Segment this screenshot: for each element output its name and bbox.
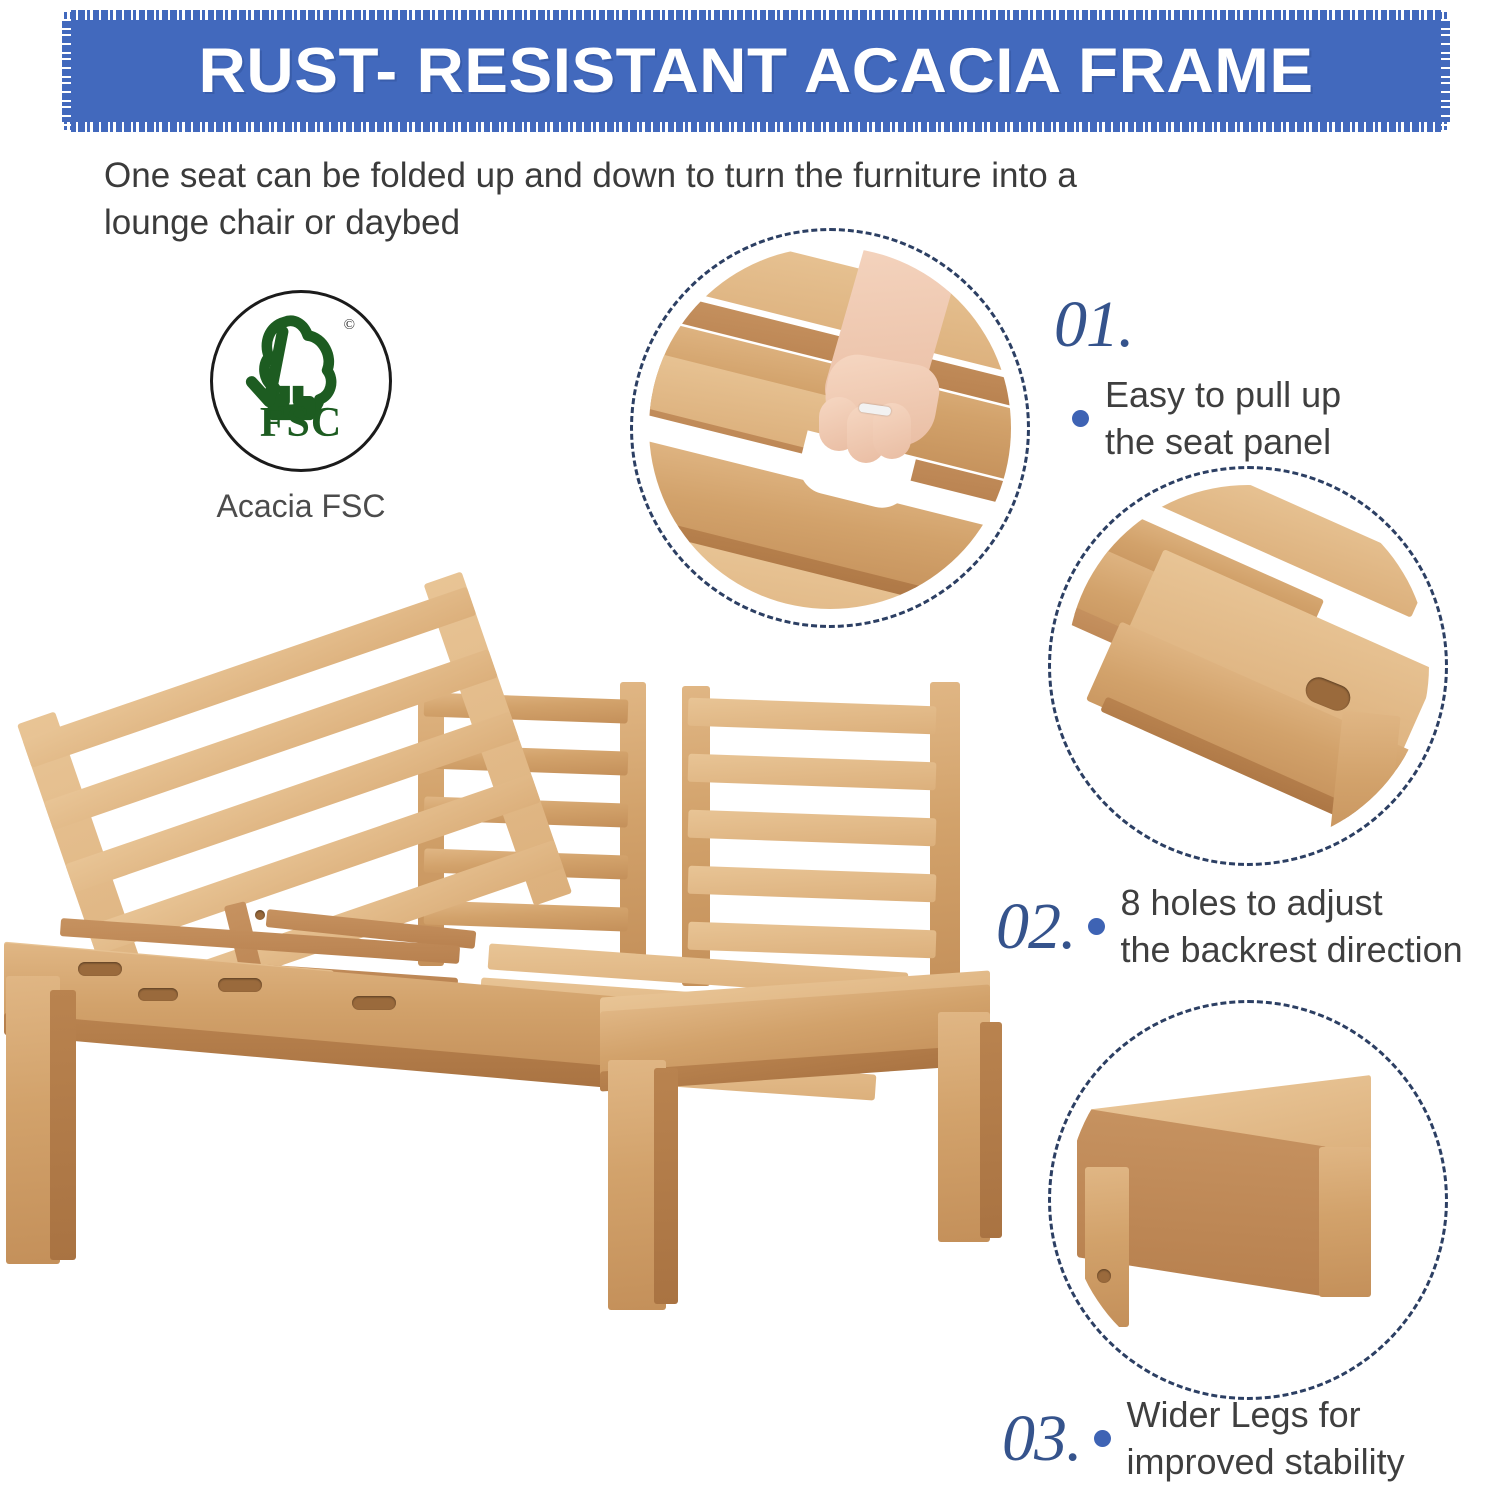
leg-screw-hole	[1097, 1269, 1111, 1283]
detail-photo-frame-adjustment-hole	[1048, 466, 1448, 866]
callout-02: 02. 8 holes to adjust the backrest direc…	[996, 880, 1463, 974]
detail-photo-inner-2	[1067, 485, 1429, 847]
detail-photo-inner-1	[649, 247, 1011, 609]
banner-torn-edge-left	[62, 10, 71, 132]
adjust-hole-4	[138, 988, 178, 1001]
adjust-hole-3	[352, 996, 396, 1010]
subtitle-text: One seat can be folded up and down to tu…	[104, 152, 1094, 247]
callout-03: 03. Wider Legs for improved stability	[1002, 1392, 1405, 1486]
fsc-badge: © FSC Acacia FSC	[186, 290, 416, 525]
banner-torn-edge-top	[62, 10, 1450, 20]
callout-01-text: Easy to pull up the seat panel	[1105, 372, 1341, 466]
callout-01-body: Easy to pull up the seat panel	[1060, 372, 1341, 466]
fsc-circle: © FSC	[210, 290, 392, 472]
callout-01: 01.	[1054, 292, 1134, 358]
callout-02-text: 8 holes to adjust the backrest direction	[1121, 880, 1463, 974]
bullet-dot-icon	[1094, 1430, 1111, 1447]
fsc-caption: Acacia FSC	[186, 488, 416, 525]
hinge-pin	[255, 910, 265, 920]
page-title: RUST- RESISTANT ACACIA FRAME	[198, 35, 1313, 107]
callout-01-number: 01.	[1054, 292, 1134, 358]
copyright-symbol: ©	[344, 317, 355, 334]
header-banner: RUST- RESISTANT ACACIA FRAME	[62, 10, 1450, 132]
adjust-hole-2	[218, 978, 262, 992]
product-photo-lounge-daybed	[0, 640, 1010, 1300]
fsc-wordmark: FSC	[213, 399, 389, 447]
callout-03-number: 03.	[1002, 1406, 1082, 1472]
banner-torn-edge-right	[1441, 10, 1450, 132]
detail-photo-inner-3	[1067, 1019, 1429, 1381]
bullet-dot-icon	[1088, 918, 1105, 935]
detail-photo-hand-pulling-seat-panel	[630, 228, 1030, 628]
bullet-dot-icon	[1072, 410, 1089, 427]
banner-torn-edge-bottom	[62, 122, 1450, 132]
detail-photo-wide-leg-corner	[1048, 1000, 1448, 1400]
adjust-hole-1	[78, 962, 122, 976]
callout-03-text: Wider Legs for improved stability	[1127, 1392, 1405, 1486]
